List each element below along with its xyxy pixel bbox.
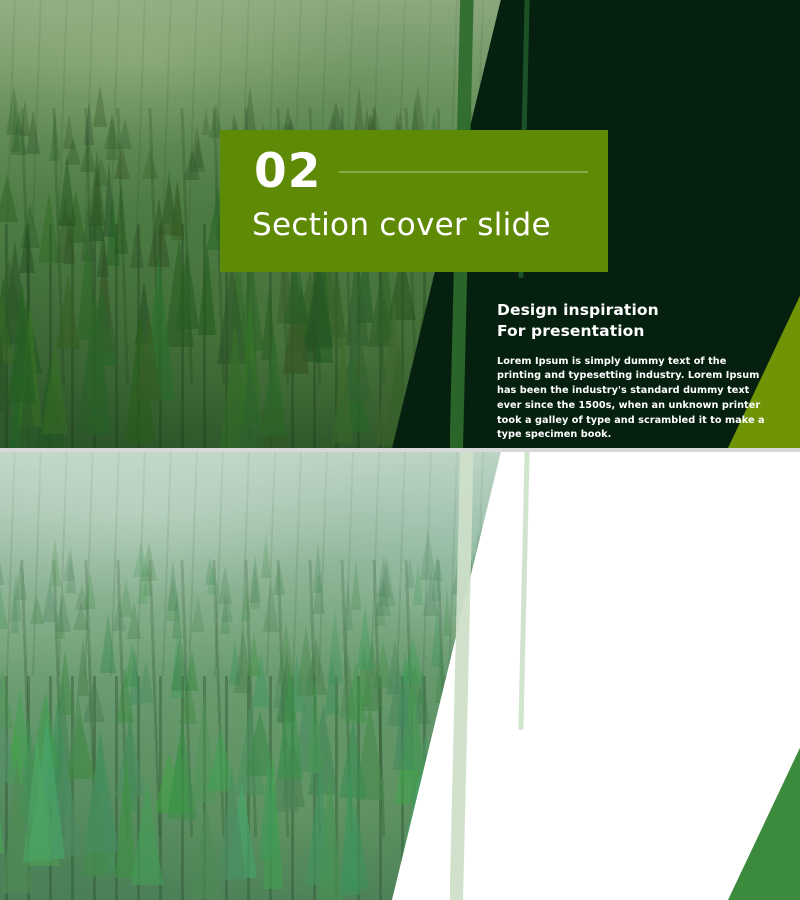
section-title: Section cover slide [220, 195, 608, 242]
subheading-line-1: Design inspiration [497, 300, 765, 321]
slide-deck: 02 Section cover slide Design inspiratio… [0, 0, 800, 900]
text-block-dark: Design inspiration For presentation Lore… [497, 300, 765, 443]
section-number: 02 [254, 148, 321, 195]
title-card-dark[interactable]: 02 Section cover slide [220, 130, 608, 272]
slide-light[interactable]: 02 Section cover slide Design inspiratio… [0, 452, 800, 900]
body-text: Lorem Ipsum is simply dummy text of the … [497, 355, 765, 443]
slide-dark[interactable]: 02 Section cover slide Design inspiratio… [0, 0, 800, 448]
subheading: Design inspiration For presentation [497, 300, 765, 343]
subheading-line-2: For presentation [497, 321, 765, 342]
number-row: 02 [220, 130, 608, 195]
number-rule [339, 171, 588, 173]
